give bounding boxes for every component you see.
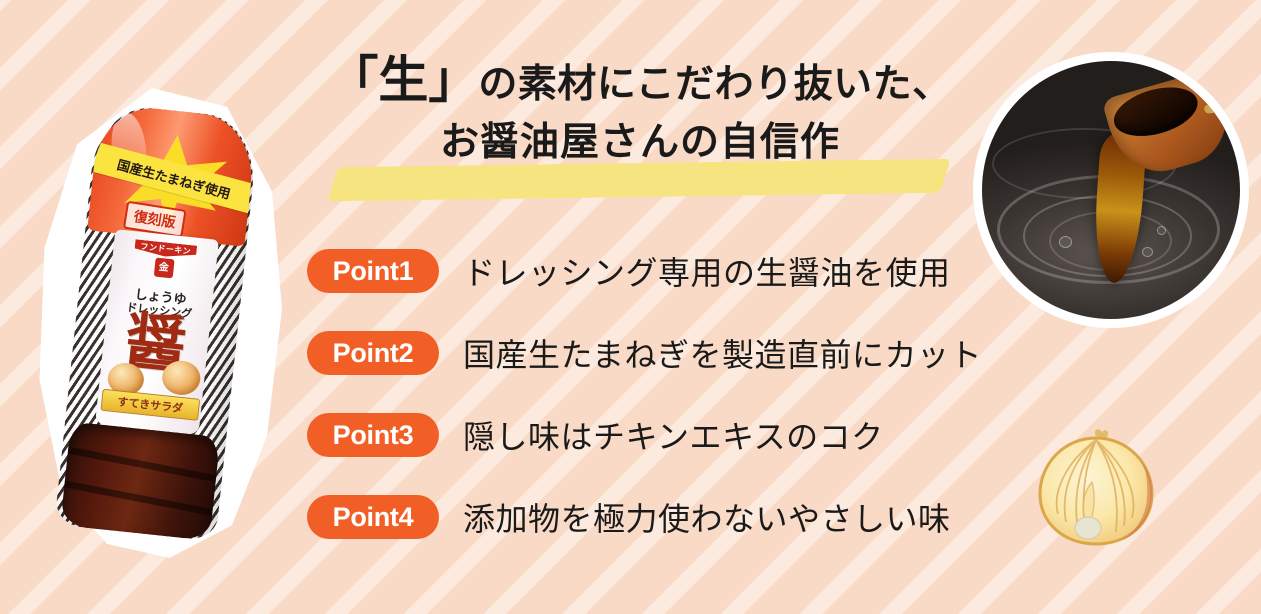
point-text-4: 添加物を極力使わないやさしい味 xyxy=(463,494,951,540)
ladle-handle xyxy=(1204,98,1240,113)
point-row: Point1 ドレッシング専用の生醤油を使用 xyxy=(307,243,987,299)
point-badge-3: Point3 xyxy=(307,413,439,457)
promo-banner: 国産生たまねぎ使用 復刻版 フンドーキン 金 しょうゆ ドレッシング 醤 すてき… xyxy=(0,0,1261,614)
sauce-bubble xyxy=(1142,247,1153,257)
point-badge-1: Point1 xyxy=(307,249,439,293)
headline-line-1-rest: の素材にこだわり抜いた、 xyxy=(478,63,951,106)
bottle-sauce-base xyxy=(60,422,220,541)
point-row: Point3 隠し味はチキンエキスのコク xyxy=(307,407,987,463)
point-row: Point4 添加物を極力使わないやさしい味 xyxy=(307,489,987,545)
bottle-ring-upper xyxy=(62,445,220,484)
ladle-bowl xyxy=(1108,78,1203,144)
bottle-label: フンドーキン 金 しょうゆ ドレッシング 醤 すてきサラダ xyxy=(95,229,219,435)
point-row: Point2 国産生たまねぎを製造直前にカット xyxy=(307,325,987,381)
point-text-1: ドレッシング専用の生醤油を使用 xyxy=(463,248,951,294)
points-list: Point1 ドレッシング専用の生醤油を使用 Point2 国産生たまねぎを製造… xyxy=(307,243,987,571)
headline: 「生」の素材にこだわり抜いた、 お醤油屋さんの自信作 xyxy=(310,48,970,168)
brand-name: フンドーキン xyxy=(134,239,197,259)
brand-mark: フンドーキン 金 xyxy=(132,239,197,280)
onion-illustration xyxy=(1030,420,1162,552)
point-text-3: 隠し味はチキンエキスのコク xyxy=(463,412,884,458)
point-text-2: 国産生たまねぎを製造直前にカット xyxy=(463,330,982,376)
soy-sauce-photo-inner xyxy=(982,61,1240,319)
soy-sauce-photo xyxy=(973,52,1249,328)
point-badge-4: Point4 xyxy=(307,495,439,539)
headline-line-2: お醤油屋さんの自信作 xyxy=(310,118,970,168)
point-badge-2: Point2 xyxy=(307,331,439,375)
product-photo: 国産生たまねぎ使用 復刻版 フンドーキン 金 しょうゆ ドレッシング 醤 すてき… xyxy=(32,88,282,558)
headline-emphasis: 「生」 xyxy=(328,52,478,108)
bottle-ring-lower xyxy=(60,479,220,518)
brand-seal-icon: 金 xyxy=(153,257,174,278)
headline-line-1: 「生」の素材にこだわり抜いた、 xyxy=(310,48,970,112)
